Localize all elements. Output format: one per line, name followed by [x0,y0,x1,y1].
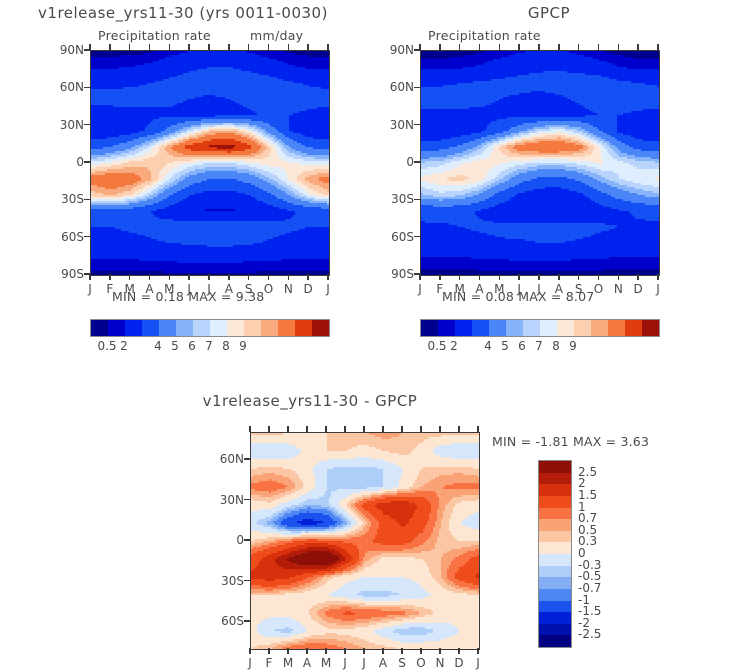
x-axis-diff-tick-top [363,426,364,432]
y-axis-obs-label: 60N [380,80,414,94]
field-obs [421,51,659,275]
x-axis-obs-tick [558,274,559,280]
x-axis-model-tick [149,274,150,280]
x-axis-obs-tick-top [558,44,559,50]
field-model [91,51,329,275]
colorbar-precip-obs-swatch[interactable] [642,320,659,336]
x-axis-diff-tick-top [344,426,345,432]
x-axis-diff-tick [306,648,307,654]
x-axis-diff-tick [344,648,345,654]
colorbar-precip-obs-swatch[interactable] [523,320,540,336]
y-axis-obs-tick [414,236,420,237]
x-axis-obs-tick-top [499,44,500,50]
y-axis-obs-label: 30S [380,192,414,206]
x-axis-model-tick-top [307,44,308,50]
y-axis-diff-label: 60N [210,452,244,466]
x-axis-diff-tick [439,648,440,654]
x-axis-model-tick [248,274,249,280]
x-axis-diff-label: D [449,656,469,670]
x-axis-model-label: D [298,282,318,296]
x-axis-model-label: N [278,282,298,296]
colorbar-precip-obs-swatch[interactable] [540,320,557,336]
y-axis-obs-label: 60S [380,230,414,244]
minmax-model: MIN = 0.18 MAX = 9.38 [112,289,264,304]
x-axis-obs-tick-top [479,44,480,50]
x-axis-diff-label: J [468,656,488,670]
colorbar-precip-obs-swatch[interactable] [557,320,574,336]
x-axis-diff-tick [401,648,402,654]
panel-model-title: v1release_yrs11-30 (yrs 0011-0030) [0,4,366,22]
x-axis-diff-tick [420,648,421,654]
colorbar-precip-obs-swatch[interactable] [625,320,642,336]
y-axis-model-label: 60N [50,80,84,94]
colorbar-precip-model-swatch[interactable] [210,320,227,336]
x-axis-diff-label: J [240,656,260,670]
panel-model-units-label: mm/day [250,28,303,43]
y-axis-model-label: 90S [50,267,84,281]
colorbar-precip-obs-swatch[interactable] [591,320,608,336]
colorbar-diff-swatch[interactable] [539,589,571,601]
x-axis-diff-label: M [278,656,298,670]
panel-diff-title: v1release_yrs11-30 - GPCP [120,392,500,410]
x-axis-model-tick [228,274,229,280]
x-axis-obs-tick-top [657,44,658,50]
x-axis-model-label: J [318,282,338,296]
x-axis-diff-label: S [392,656,412,670]
x-axis-diff-tick [458,648,459,654]
panel-obs-title: GPCP [366,4,732,22]
y-axis-obs-tick [414,87,420,88]
x-axis-obs-tick-top [518,44,519,50]
colorbar-precip-obs-swatch[interactable] [608,320,625,336]
x-axis-diff-tick [382,648,383,654]
colorbar-precip-model-swatch[interactable] [125,320,142,336]
colorbar-diff-swatch[interactable] [539,612,571,624]
y-axis-model-tick [84,161,90,162]
x-axis-diff-label: F [259,656,279,670]
x-axis-diff-tick [268,648,269,654]
x-axis-diff-tick [325,648,326,654]
colorbar-precip-obs-swatch[interactable] [506,320,523,336]
x-axis-model-tick [89,274,90,280]
x-axis-obs-label: J [648,282,668,296]
x-axis-diff-label: M [316,656,336,670]
colorbar-precip-model-swatch[interactable] [159,320,176,336]
x-axis-obs-tick [518,274,519,280]
y-axis-obs-label: 0 [380,155,414,169]
x-axis-model-tick [169,274,170,280]
x-axis-model-tick [208,274,209,280]
x-axis-model-tick-top [268,44,269,50]
y-axis-model-tick [84,199,90,200]
x-axis-model-tick [327,274,328,280]
colorbar-diff-swatch[interactable] [539,542,571,554]
x-axis-diff-label: A [373,656,393,670]
x-axis-model-tick [109,274,110,280]
y-axis-obs-label: 90N [380,43,414,57]
y-axis-model-label: 90N [50,43,84,57]
x-axis-obs-tick-top [419,44,420,50]
colorbar-precip-model-swatch[interactable] [108,320,125,336]
x-axis-model-tick-top [129,44,130,50]
x-axis-obs-tick-top [578,44,579,50]
x-axis-diff-tick-top [382,426,383,432]
y-axis-model-label: 30S [50,192,84,206]
x-axis-obs-tick [657,274,658,280]
y-axis-diff-tick [244,539,250,540]
x-axis-model-tick [288,274,289,280]
field-diff [251,433,479,649]
x-axis-obs-label: N [608,282,628,296]
colorbar-diff-swatch[interactable] [539,554,571,566]
colorbar-diff[interactable] [538,460,572,648]
y-axis-diff-label: 30N [210,493,244,507]
colorbar-precip-obs-swatch[interactable] [421,320,438,336]
minmax-diff: MIN = -1.81 MAX = 3.63 [492,434,649,449]
y-axis-obs-tick [414,199,420,200]
x-axis-model-tick-top [149,44,150,50]
x-axis-model-tick-top [188,44,189,50]
x-axis-model-label: J [80,282,100,296]
colorbar-diff-swatch[interactable] [539,508,571,520]
y-axis-model-tick [84,124,90,125]
colorbar-diff-swatch[interactable] [539,531,571,543]
colorbar-precip-obs-swatch[interactable] [455,320,472,336]
x-axis-obs-tick [598,274,599,280]
colorbar-diff-tick-label: -2.5 [578,627,601,641]
x-axis-model-tick [188,274,189,280]
x-axis-diff-label: J [354,656,374,670]
x-axis-diff-tick-top [325,426,326,432]
x-axis-model-tick [268,274,269,280]
colorbar-precip-model-swatch[interactable] [193,320,210,336]
colorbar-diff-swatch[interactable] [539,577,571,589]
x-axis-diff-tick-top [287,426,288,432]
x-axis-model-tick-top [248,44,249,50]
x-axis-diff-label: N [430,656,450,670]
colorbar-precip-model-swatch[interactable] [91,320,108,336]
x-axis-diff-label: A [297,656,317,670]
x-axis-obs-tick [499,274,500,280]
x-axis-obs-label: J [410,282,430,296]
x-axis-diff-tick-top [420,426,421,432]
colorbar-diff-swatch[interactable] [539,473,571,485]
x-axis-model-tick-top [169,44,170,50]
y-axis-model-tick [84,236,90,237]
x-axis-obs-tick-top [459,44,460,50]
x-axis-diff-tick [477,648,478,654]
x-axis-diff-tick [363,648,364,654]
x-axis-obs-tick [419,274,420,280]
x-axis-obs-tick-top [538,44,539,50]
x-axis-diff-tick [287,648,288,654]
colorbar-diff-swatch[interactable] [539,484,571,496]
minmax-obs: MIN = 0.08 MAX = 8.07 [442,289,594,304]
y-axis-model-label: 0 [50,155,84,169]
y-axis-diff-tick [244,499,250,500]
plot-area-obs[interactable] [420,50,660,276]
y-axis-model-label: 30N [50,118,84,132]
x-axis-diff-tick-top [458,426,459,432]
y-axis-diff-tick [244,620,250,621]
colorbar-precip-model-swatch[interactable] [312,320,329,336]
colorbar-precip-obs-swatch[interactable] [438,320,455,336]
panel-model-var-label: Precipitation rate [98,28,211,43]
x-axis-model-tick-top [109,44,110,50]
x-axis-obs-tick [578,274,579,280]
x-axis-obs-tick-top [637,44,638,50]
x-axis-model-tick [129,274,130,280]
colorbar-precip-obs-tick-label: 2 [439,339,469,353]
plot-area-model[interactable] [90,50,330,276]
y-axis-obs-label: 90S [380,267,414,281]
x-axis-obs-tick [479,274,480,280]
colorbar-precip-obs-swatch[interactable] [574,320,591,336]
x-axis-obs-tick [618,274,619,280]
x-axis-model-tick-top [208,44,209,50]
colorbar-diff-swatch[interactable] [539,635,571,647]
x-axis-model-tick-top [327,44,328,50]
x-axis-obs-tick [459,274,460,280]
x-axis-obs-tick [439,274,440,280]
colorbar-precip-model-swatch[interactable] [227,320,244,336]
x-axis-diff-tick-top [306,426,307,432]
colorbar-precip-obs-swatch[interactable] [489,320,506,336]
x-axis-model-tick-top [228,44,229,50]
x-axis-obs-tick [637,274,638,280]
x-axis-model-tick [307,274,308,280]
colorbar-precip-model-swatch[interactable] [142,320,159,336]
colorbar-diff-swatch[interactable] [539,519,571,531]
colorbar-precip-model-swatch[interactable] [176,320,193,336]
colorbar-precip-obs-swatch[interactable] [472,320,489,336]
colorbar-precip-obs[interactable] [420,319,660,337]
x-axis-diff-tick-top [477,426,478,432]
y-axis-obs-tick [414,161,420,162]
colorbar-precip-obs-tick-label: 9 [558,339,588,353]
x-axis-obs-label: D [628,282,648,296]
colorbar-diff-swatch[interactable] [539,601,571,613]
plot-area-diff[interactable] [250,432,480,650]
y-axis-model-label: 60S [50,230,84,244]
y-axis-model-tick [84,87,90,88]
colorbar-precip-model-tick-label: 9 [228,339,258,353]
colorbar-diff-swatch[interactable] [539,461,571,473]
x-axis-obs-tick-top [439,44,440,50]
colorbar-precip-model[interactable] [90,319,330,337]
panel-obs-var-label: Precipitation rate [428,28,541,43]
x-axis-model-tick-top [89,44,90,50]
colorbar-precip-model-swatch[interactable] [295,320,312,336]
colorbar-precip-model-swatch[interactable] [261,320,278,336]
x-axis-obs-tick [538,274,539,280]
y-axis-obs-tick [414,124,420,125]
y-axis-diff-label: 60S [210,614,244,628]
colorbar-precip-model-swatch[interactable] [278,320,295,336]
x-axis-diff-tick-top [268,426,269,432]
y-axis-obs-label: 30N [380,118,414,132]
x-axis-diff-tick [249,648,250,654]
y-axis-diff-tick [244,580,250,581]
colorbar-precip-model-tick-label: 2 [109,339,139,353]
x-axis-diff-tick-top [439,426,440,432]
x-axis-diff-tick-top [401,426,402,432]
x-axis-diff-label: O [411,656,431,670]
x-axis-obs-tick-top [618,44,619,50]
colorbar-precip-model-swatch[interactable] [244,320,261,336]
y-axis-diff-tick [244,458,250,459]
x-axis-model-tick-top [288,44,289,50]
y-axis-diff-label: 0 [210,533,244,547]
x-axis-obs-tick-top [598,44,599,50]
y-axis-diff-label: 30S [210,574,244,588]
colorbar-diff-swatch[interactable] [539,624,571,636]
x-axis-diff-tick-top [249,426,250,432]
colorbar-diff-swatch[interactable] [539,566,571,578]
x-axis-diff-label: J [335,656,355,670]
colorbar-diff-swatch[interactable] [539,496,571,508]
